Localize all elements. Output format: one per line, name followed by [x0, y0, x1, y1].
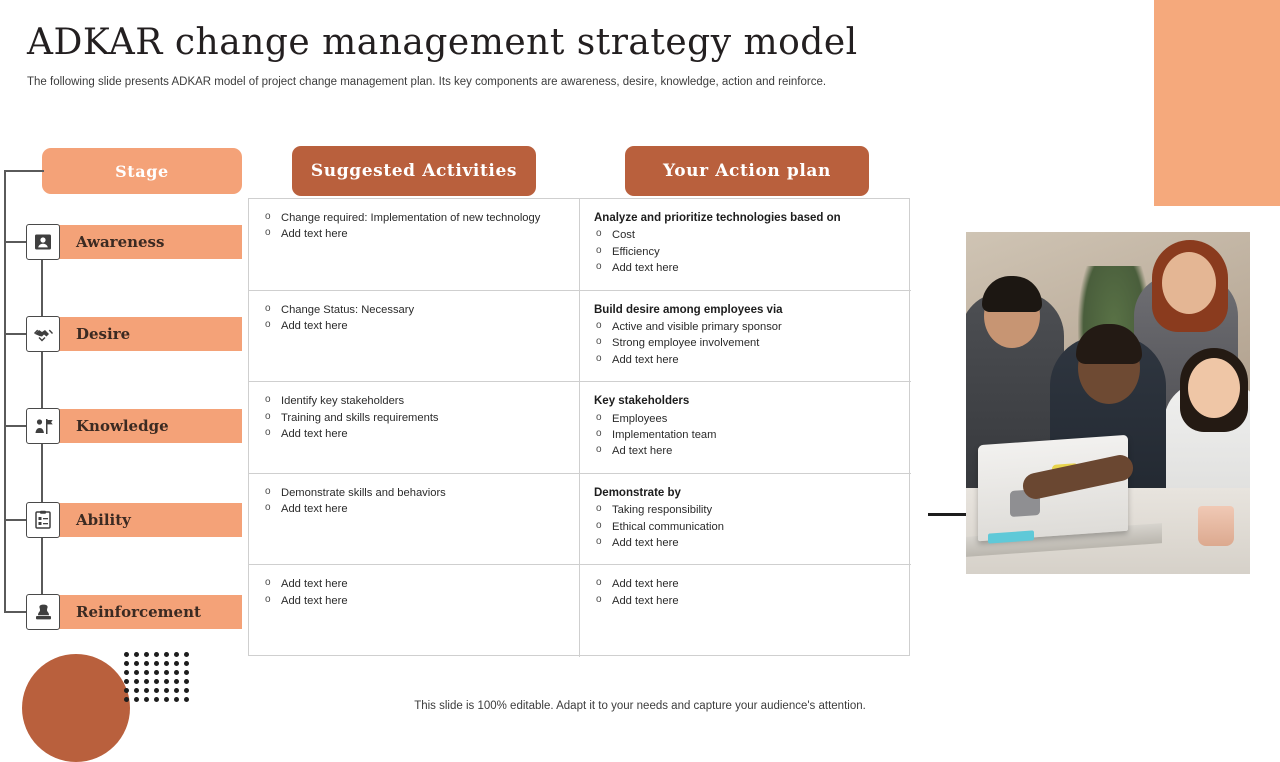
decorative-dot: [164, 688, 169, 693]
stage-label-reinforcement: Reinforcement: [58, 595, 242, 629]
action-list-4: Taking responsibility Ethical communicat…: [594, 503, 897, 550]
decorative-dot: [184, 688, 189, 693]
decorative-dot: [144, 661, 149, 666]
list-item: Training and skills requirements: [263, 411, 565, 425]
header-your-action-plan: Your Action plan: [625, 146, 869, 196]
decorative-dot: [144, 688, 149, 693]
list-item: Change required: Implementation of new t…: [263, 211, 565, 225]
stage-item-knowledge[interactable]: Knowledge: [26, 408, 242, 444]
page-subtitle: The following slide presents ADKAR model…: [27, 76, 826, 88]
list-item: Demonstrate skills and behaviors: [263, 486, 565, 500]
rail-vertical: [4, 170, 6, 613]
activities-list-2: Change Status: Necessary Add text here: [263, 303, 565, 334]
cell-action-3: Key stakeholders Employees Implementatio…: [580, 382, 911, 473]
photo-person-right-head: [1188, 358, 1240, 418]
cell-action-2: Build desire among employees via Active …: [580, 291, 911, 382]
stamp-icon: [26, 594, 60, 630]
action-heading-1: Analyze and prioritize technologies base…: [594, 211, 897, 225]
decorative-dot: [184, 661, 189, 666]
decorative-dot: [154, 670, 159, 675]
action-list-2: Active and visible primary sponsor Stron…: [594, 320, 897, 367]
person-flag-icon: [26, 408, 60, 444]
list-item: Add text here: [594, 594, 897, 608]
decorative-dot: [124, 652, 129, 657]
cell-action-1: Analyze and prioritize technologies base…: [580, 199, 911, 290]
list-item: Add text here: [263, 502, 565, 516]
decorative-dot-grid: [124, 652, 190, 704]
stage-item-reinforcement[interactable]: Reinforcement: [26, 594, 242, 630]
list-item: Add text here: [594, 536, 897, 550]
decorative-dot: [124, 679, 129, 684]
cell-action-5: Add text here Add text here: [580, 565, 911, 657]
decorative-dot: [124, 661, 129, 666]
list-item: Ethical communication: [594, 520, 897, 534]
activities-list-1: Change required: Implementation of new t…: [263, 211, 565, 242]
decorative-dot: [134, 688, 139, 693]
list-item: Add text here: [263, 577, 565, 591]
cell-activities-1: Change required: Implementation of new t…: [249, 199, 580, 290]
list-item: Add text here: [263, 227, 565, 241]
activities-list-5: Add text here Add text here: [263, 577, 565, 608]
stage-connector-3: [41, 443, 43, 502]
cell-activities-2: Change Status: Necessary Add text here: [249, 291, 580, 382]
decorative-dot: [154, 652, 159, 657]
decorative-right-bar: [1154, 0, 1280, 206]
header-suggested-activities: Suggested Activities: [292, 146, 536, 196]
list-item: Add text here: [263, 427, 565, 441]
decorative-dot: [184, 679, 189, 684]
decorative-dot: [164, 679, 169, 684]
rail-horizontal-top: [4, 170, 44, 172]
stage-item-awareness[interactable]: Awareness: [26, 224, 242, 260]
rail-branch-awareness: [4, 241, 26, 243]
activities-list-3: Identify key stakeholders Training and s…: [263, 394, 565, 441]
cell-action-4: Demonstrate by Taking responsibility Eth…: [580, 474, 911, 565]
decorative-dot: [184, 652, 189, 657]
decorative-dot: [144, 679, 149, 684]
action-heading-3: Key stakeholders: [594, 394, 897, 408]
list-item: Cost: [594, 228, 897, 242]
checklist-icon: [26, 502, 60, 538]
list-item: Add text here: [263, 319, 565, 333]
table-row: Change required: Implementation of new t…: [249, 199, 911, 291]
rail-branch-ability: [4, 519, 26, 521]
list-item: Identify key stakeholders: [263, 394, 565, 408]
team-collaboration-photo: JS: [966, 232, 1250, 574]
decorative-dot: [134, 670, 139, 675]
list-item: Add text here: [594, 577, 897, 591]
action-list-1: Cost Efficiency Add text here: [594, 228, 897, 275]
stage-label-ability: Ability: [58, 503, 242, 537]
slide-canvas: ADKAR change management strategy model T…: [0, 0, 1280, 720]
decorative-dot: [174, 661, 179, 666]
decorative-dot: [164, 670, 169, 675]
decorative-dot: [154, 661, 159, 666]
decorative-dot: [184, 670, 189, 675]
action-list-5: Add text here Add text here: [594, 577, 897, 608]
handshake-icon: [26, 316, 60, 352]
photo-cup: [1198, 506, 1234, 546]
list-item: Change Status: Necessary: [263, 303, 565, 317]
decorative-dot: [134, 652, 139, 657]
table-row: Change Status: Necessary Add text here B…: [249, 291, 911, 383]
stage-connector-4: [41, 537, 43, 594]
photo-person-topright-head: [1162, 252, 1216, 314]
adkar-table: Change required: Implementation of new t…: [248, 198, 910, 656]
list-item: Taking responsibility: [594, 503, 897, 517]
stage-item-desire[interactable]: Desire: [26, 316, 242, 352]
decorative-dot: [174, 670, 179, 675]
decorative-dot: [174, 688, 179, 693]
footer-note: This slide is 100% editable. Adapt it to…: [0, 700, 1280, 712]
stage-connector-2: [41, 351, 43, 408]
list-item: Add text here: [594, 353, 897, 367]
action-heading-2: Build desire among employees via: [594, 303, 897, 317]
decorative-dot: [164, 652, 169, 657]
decorative-dot: [144, 670, 149, 675]
person-card-icon: [26, 224, 60, 260]
stage-label-desire: Desire: [58, 317, 242, 351]
list-item: Efficiency: [594, 245, 897, 259]
cell-activities-3: Identify key stakeholders Training and s…: [249, 382, 580, 473]
list-item: Strong employee involvement: [594, 336, 897, 350]
list-item: Active and visible primary sponsor: [594, 320, 897, 334]
decorative-dot: [154, 688, 159, 693]
action-list-3: Employees Implementation team Ad text he…: [594, 412, 897, 459]
list-item: Employees: [594, 412, 897, 426]
stage-connector-1: [41, 259, 43, 316]
action-heading-4: Demonstrate by: [594, 486, 897, 500]
decorative-dot: [174, 652, 179, 657]
rail-branch-desire: [4, 333, 26, 335]
decorative-dot: [124, 670, 129, 675]
page-title: ADKAR change management strategy model: [27, 22, 858, 63]
decorative-dot: [174, 679, 179, 684]
table-row: Demonstrate skills and behaviors Add tex…: [249, 474, 911, 566]
decorative-dot: [134, 679, 139, 684]
decorative-dot: [124, 688, 129, 693]
cell-activities-5: Add text here Add text here: [249, 565, 580, 657]
cell-activities-4: Demonstrate skills and behaviors Add tex…: [249, 474, 580, 565]
header-stage: Stage: [42, 148, 242, 194]
list-item: Add text here: [263, 594, 565, 608]
rail-branch-reinforcement: [4, 611, 26, 613]
table-row: Add text here Add text here Add text her…: [249, 565, 911, 657]
rail-branch-knowledge: [4, 425, 26, 427]
decorative-dot: [164, 661, 169, 666]
stage-item-ability[interactable]: Ability: [26, 502, 242, 538]
list-item: Add text here: [594, 261, 897, 275]
decorative-dot: [134, 661, 139, 666]
list-item: Ad text here: [594, 444, 897, 458]
list-item: Implementation team: [594, 428, 897, 442]
stage-label-awareness: Awareness: [58, 225, 242, 259]
decorative-dot: [154, 679, 159, 684]
decorative-dot: [144, 652, 149, 657]
activities-list-4: Demonstrate skills and behaviors Add tex…: [263, 486, 565, 517]
table-row: Identify key stakeholders Training and s…: [249, 382, 911, 474]
stage-label-knowledge: Knowledge: [58, 409, 242, 443]
